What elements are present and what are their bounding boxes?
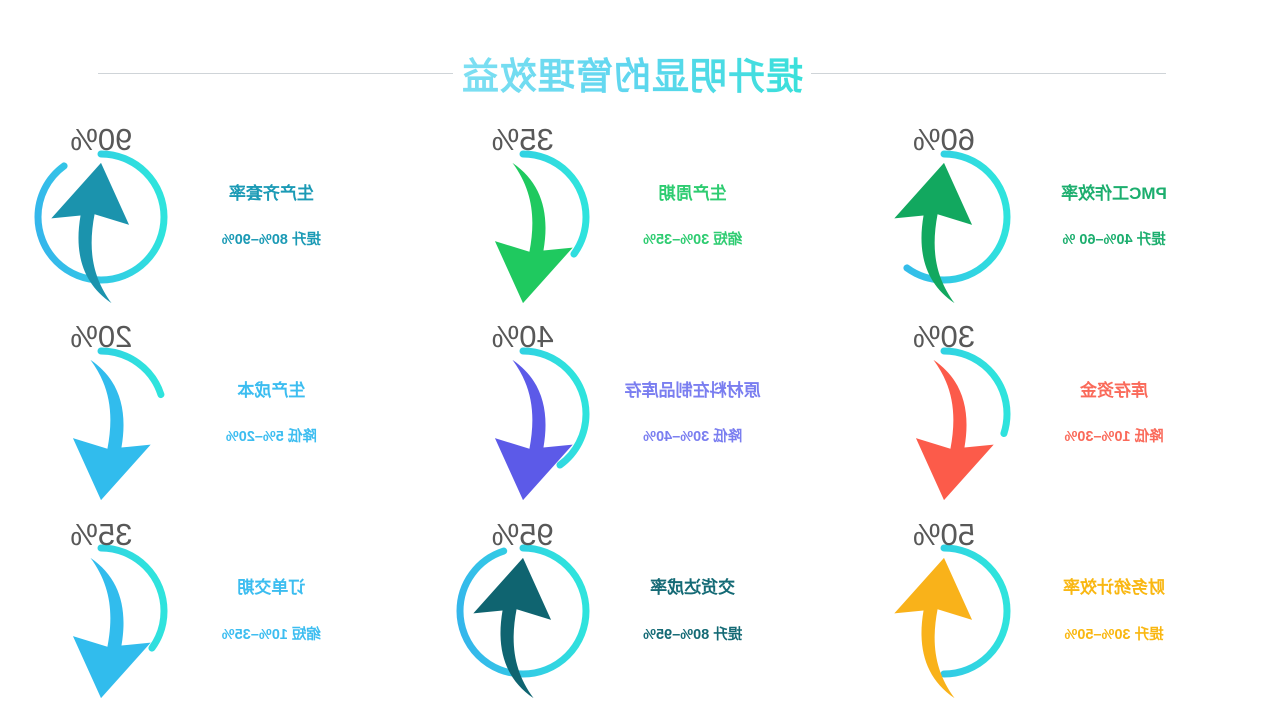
metric-name: PMC工作效率 — [1028, 184, 1200, 204]
title-divider-left — [811, 73, 1166, 74]
gauge-ring — [868, 338, 1020, 490]
slide-canvas: 提升明显的管理效益 PMC工作效率提升 40%–60 %60%生产周期缩短 30… — [0, 0, 1264, 710]
metric-name: 财务统计效率 — [1028, 578, 1200, 598]
gauge-ring — [447, 338, 599, 490]
metric-cell: 财务统计效率提升 30%–50%50% — [843, 513, 1264, 710]
metric-labels: 交货达成率提升 80%–95% — [607, 578, 779, 644]
metric-name: 订单交期 — [185, 578, 357, 598]
metric-cell: 原材料在制品库存降低 30%–40%40% — [421, 315, 842, 512]
metric-name: 生产周期 — [607, 184, 779, 204]
metric-delta: 降低 5%–20% — [185, 429, 357, 446]
title-divider-right — [98, 73, 453, 74]
gauge-chart: 95% — [447, 535, 599, 687]
metric-delta: 降低 10%–30% — [1028, 429, 1200, 446]
metric-cell: 生产齐套率提升 80%–90%90% — [0, 118, 421, 315]
metric-cell: 交货达成率提升 80%–95%95% — [421, 513, 842, 710]
gauge-chart: 90% — [25, 141, 177, 293]
gauge-chart: 50% — [868, 535, 1020, 687]
metric-cell: 生产周期缩短 30%–35%35% — [421, 118, 842, 315]
metric-labels: 库存资金降低 10%–30% — [1028, 381, 1200, 447]
metric-labels: 订单交期缩短 10%–35% — [185, 578, 357, 644]
metric-labels: 生产成本降低 5%–20% — [185, 381, 357, 447]
gauge-ring — [25, 535, 177, 687]
gauge-ring — [447, 141, 599, 293]
gauge-ring — [25, 338, 177, 490]
metric-cell: 库存资金降低 10%–30%30% — [843, 315, 1264, 512]
metric-name: 库存资金 — [1028, 381, 1200, 401]
gauge-chart: 40% — [447, 338, 599, 490]
metric-cell: PMC工作效率提升 40%–60 %60% — [843, 118, 1264, 315]
metric-cell: 生产成本降低 5%–20%20% — [0, 315, 421, 512]
metric-delta: 提升 30%–50% — [1028, 627, 1200, 644]
metric-labels: 原材料在制品库存降低 30%–40% — [607, 381, 779, 447]
metric-labels: 生产齐套率提升 80%–90% — [185, 184, 357, 250]
metric-delta: 提升 40%–60 % — [1028, 232, 1200, 249]
metric-delta: 降低 30%–40% — [607, 429, 779, 446]
title-row: 提升明显的管理效益 — [0, 44, 1264, 102]
metric-delta: 缩短 10%–35% — [185, 627, 357, 644]
page-title: 提升明显的管理效益 — [461, 46, 803, 100]
gauge-ring — [447, 535, 599, 687]
metric-name: 交货达成率 — [607, 578, 779, 598]
gauge-chart: 35% — [447, 141, 599, 293]
metric-cell: 订单交期缩短 10%–35%35% — [0, 513, 421, 710]
metric-name: 生产成本 — [185, 381, 357, 401]
metric-delta: 提升 80%–90% — [185, 232, 357, 249]
gauge-chart: 35% — [25, 535, 177, 687]
metric-name: 原材料在制品库存 — [607, 381, 779, 401]
metric-labels: PMC工作效率提升 40%–60 % — [1028, 184, 1200, 250]
metric-delta: 缩短 30%–35% — [607, 232, 779, 249]
gauge-ring — [868, 535, 1020, 687]
metric-name: 生产齐套率 — [185, 184, 357, 204]
gauge-ring — [868, 141, 1020, 293]
metrics-grid: PMC工作效率提升 40%–60 %60%生产周期缩短 30%–35%35%生产… — [0, 118, 1264, 710]
gauge-chart: 20% — [25, 338, 177, 490]
gauge-chart: 30% — [868, 338, 1020, 490]
gauge-ring — [25, 141, 177, 293]
metric-labels: 财务统计效率提升 30%–50% — [1028, 578, 1200, 644]
metric-labels: 生产周期缩短 30%–35% — [607, 184, 779, 250]
gauge-chart: 60% — [868, 141, 1020, 293]
metric-delta: 提升 80%–95% — [607, 627, 779, 644]
